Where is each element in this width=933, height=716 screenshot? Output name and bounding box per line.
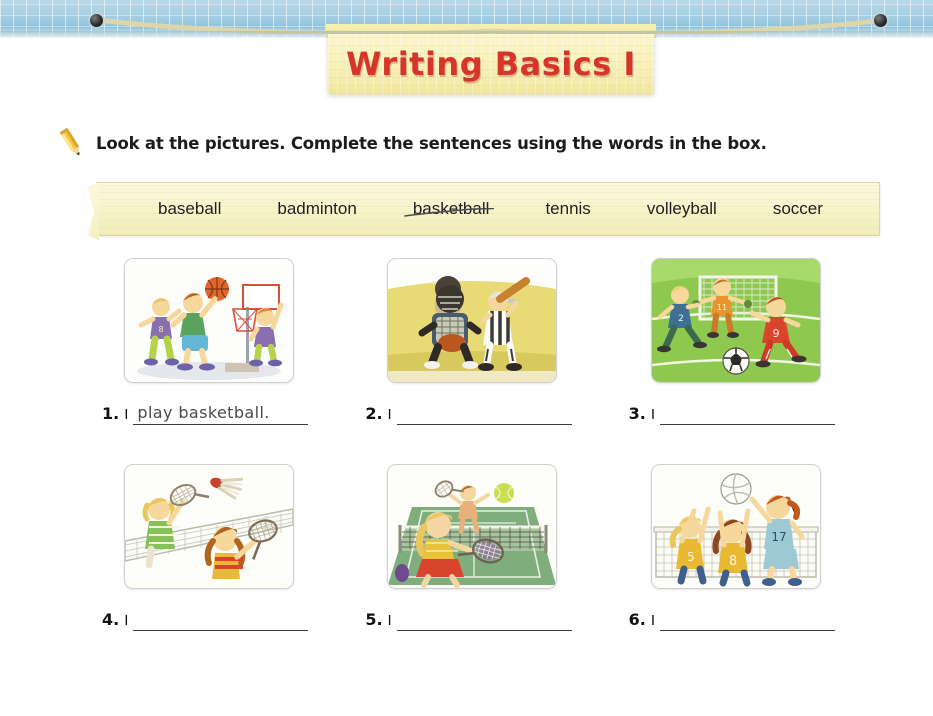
word-label: basketball (413, 199, 490, 218)
instruction-text: Look at the pictures. Complete the sente… (96, 134, 767, 153)
word-chip-tennis[interactable]: tennis (545, 199, 590, 219)
word-label: badminton (277, 199, 356, 218)
word-label: baseball (158, 199, 221, 218)
item-number: 2. (365, 406, 382, 425)
binder-pin-left (90, 14, 103, 27)
item-number: 6. (629, 612, 646, 631)
baseball-picture (387, 258, 557, 383)
svg-text:11: 11 (717, 303, 727, 312)
tennis-picture (387, 464, 557, 589)
item-number: 5. (365, 612, 382, 631)
answer-line-2: 2. I (365, 395, 622, 425)
item-number: 1. (102, 406, 119, 425)
answer-blank-5[interactable] (397, 606, 572, 631)
svg-text:5: 5 (687, 550, 695, 564)
word-chip-badminton[interactable]: badminton (277, 199, 356, 219)
sentence-lead: I (388, 407, 392, 425)
answer-blank-6[interactable] (660, 606, 835, 631)
pencil-icon (56, 126, 86, 160)
answer-text-1: play basketball. (137, 403, 269, 422)
word-label: soccer (773, 199, 823, 218)
basketball-picture: 8 (124, 258, 294, 383)
soccer-picture: 11 2 (651, 258, 821, 383)
word-label: tennis (545, 199, 590, 218)
svg-text:2: 2 (678, 314, 684, 324)
top-binder-strip (0, 0, 933, 38)
exercise-item-1: 8 (96, 258, 359, 425)
sentence-lead: I (124, 407, 128, 425)
page-title: Writing Basics I (346, 45, 636, 83)
word-chip-basketball[interactable]: basketball (413, 199, 490, 219)
exercise-row-top: 8 (96, 258, 886, 425)
word-chip-volleyball[interactable]: volleyball (647, 199, 717, 219)
sentence-lead: I (124, 613, 128, 631)
answer-blank-2[interactable] (397, 400, 572, 425)
sentence-lead: I (651, 407, 655, 425)
svg-text:17: 17 (771, 530, 786, 544)
svg-text:8: 8 (729, 554, 737, 569)
title-banner: Writing Basics I (328, 34, 654, 94)
sentence-lead: I (651, 613, 655, 631)
sentence-lead: I (388, 613, 392, 631)
volleyball-picture: 5 8 17 (651, 464, 821, 589)
item-number: 4. (102, 612, 119, 631)
word-box: baseball badminton basketball tennis vol… (96, 182, 880, 236)
answer-blank-3[interactable] (660, 400, 835, 425)
answer-line-3: 3. I (629, 395, 886, 425)
word-chip-soccer[interactable]: soccer (773, 199, 823, 219)
item-number: 3. (629, 406, 646, 425)
exercise-grid: 8 (96, 258, 886, 631)
word-chip-baseball[interactable]: baseball (158, 199, 221, 219)
exercise-item-5: 5. I (359, 464, 622, 631)
binder-pin-right (874, 14, 887, 27)
exercise-item-3: 11 2 (623, 258, 886, 425)
exercise-item-4: 4. I (96, 464, 359, 631)
answer-line-4: 4. I (102, 601, 359, 631)
answer-line-6: 6. I (629, 601, 886, 631)
badminton-picture (124, 464, 294, 589)
answer-line-1: 1. I play basketball. (102, 395, 359, 425)
exercise-row-bottom: 4. I (96, 464, 886, 631)
answer-blank-1[interactable]: play basketball. (133, 400, 308, 425)
answer-line-5: 5. I (365, 601, 622, 631)
exercise-item-2: 2. I (359, 258, 622, 425)
svg-text:8: 8 (158, 325, 163, 334)
svg-text:9: 9 (772, 327, 779, 340)
exercise-item-6: 5 8 17 (623, 464, 886, 631)
answer-blank-4[interactable] (133, 606, 308, 631)
instruction-row: Look at the pictures. Complete the sente… (56, 126, 767, 160)
word-label: volleyball (647, 199, 717, 218)
